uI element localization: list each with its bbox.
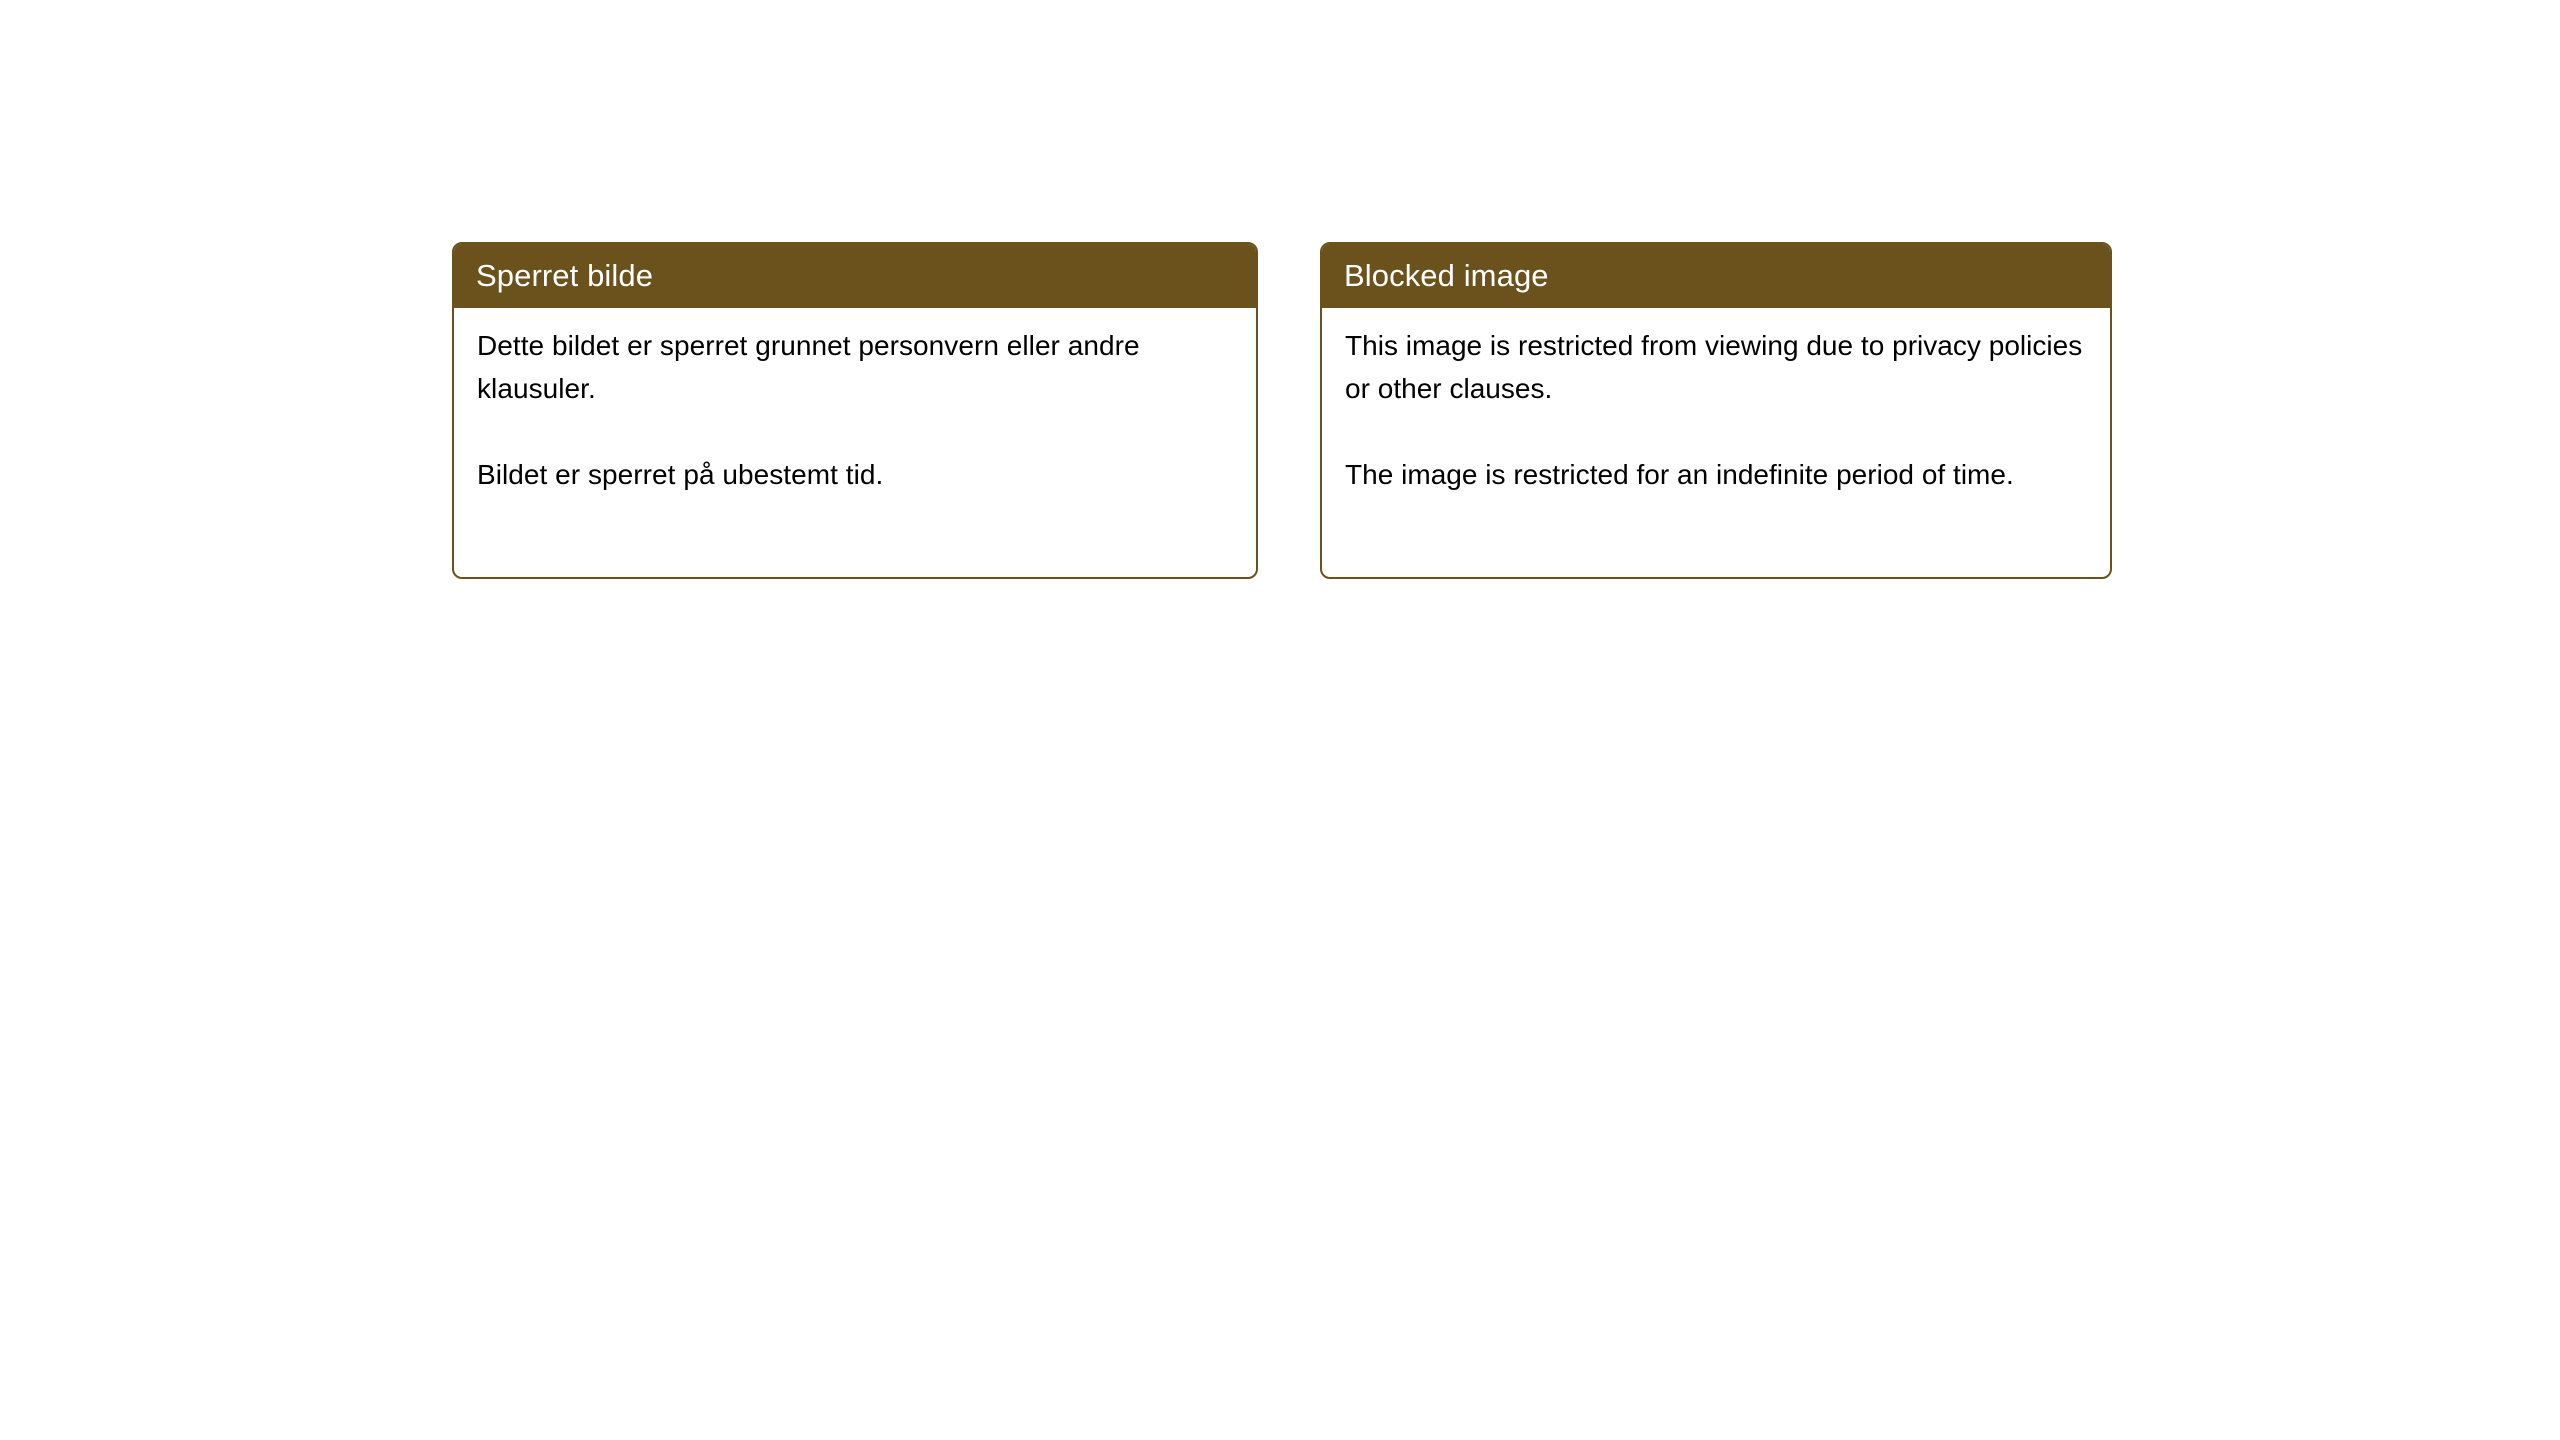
card-paragraph-norwegian-2: Bildet er sperret på ubestemt tid. [477, 453, 1236, 496]
page-viewport: Sperret bilde Dette bildet er sperret gr… [0, 0, 2560, 1440]
card-body-norwegian: Dette bildet er sperret grunnet personve… [454, 308, 1256, 496]
blocked-image-notice-card-english: Blocked image This image is restricted f… [1320, 242, 2112, 579]
card-header-norwegian: Sperret bilde [454, 244, 1256, 308]
blocked-image-notice-card-norwegian: Sperret bilde Dette bildet er sperret gr… [452, 242, 1258, 579]
card-paragraph-english-2: The image is restricted for an indefinit… [1345, 453, 2090, 496]
card-paragraph-norwegian-1: Dette bildet er sperret grunnet personve… [477, 324, 1236, 410]
paragraph-spacer-norwegian [477, 410, 1236, 453]
paragraph-spacer-english [1345, 410, 2090, 453]
card-paragraph-english-1: This image is restricted from viewing du… [1345, 324, 2090, 410]
card-title-english: Blocked image [1344, 258, 1549, 294]
card-header-english: Blocked image [1322, 244, 2110, 308]
card-title-norwegian: Sperret bilde [476, 258, 653, 294]
card-body-english: This image is restricted from viewing du… [1322, 308, 2110, 496]
